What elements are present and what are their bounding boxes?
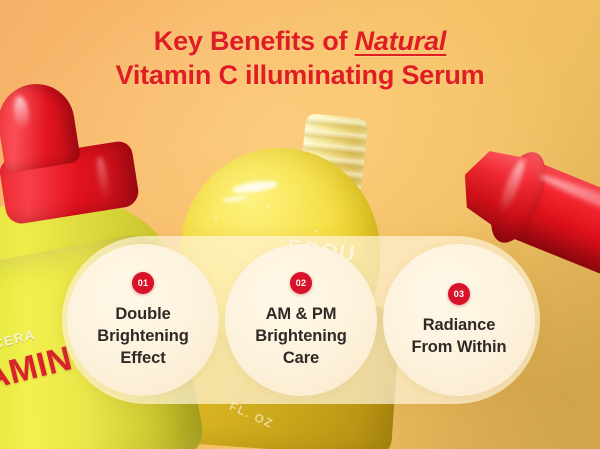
benefit-title-line: From Within	[412, 338, 507, 356]
benefit-title-line: Radiance	[423, 316, 496, 334]
benefit-card[interactable]: 01 Double Brightening Effect	[67, 244, 219, 396]
status-badge: 01	[132, 272, 154, 294]
benefit-title-line: AM & PM	[266, 305, 337, 323]
status-badge: 03	[448, 283, 470, 305]
headline-line2: Vitamin C illuminating Serum	[0, 58, 600, 92]
poster-canvas: QQU BER DEEP CERA VITAMIN EQQU BER FL. O…	[0, 0, 600, 449]
headline-line1-prefix: Key Benefits of	[154, 26, 355, 56]
page-title: Key Benefits of Natural Vitamin C illumi…	[0, 24, 600, 92]
benefit-title-line: Brightening	[255, 327, 346, 345]
benefit-card[interactable]: 03 Radiance From Within	[383, 244, 535, 396]
benefit-title-line: Effect	[120, 349, 165, 367]
benefit-title-line: Brightening	[97, 327, 188, 345]
status-badge: 02	[290, 272, 312, 294]
benefit-card-list: 01 Double Brightening Effect 02 AM & PM …	[62, 236, 540, 404]
benefit-card-title: Radiance From Within	[404, 314, 515, 358]
benefit-card-title: AM & PM Brightening Care	[247, 303, 354, 369]
headline-emphasis-natural: Natural	[355, 26, 447, 56]
benefit-card-title: Double Brightening Effect	[89, 303, 196, 369]
poster-content: Key Benefits of Natural Vitamin C illumi…	[0, 0, 600, 449]
benefit-title-line: Double	[115, 305, 170, 323]
benefit-title-line: Care	[283, 349, 319, 367]
benefit-card[interactable]: 02 AM & PM Brightening Care	[225, 244, 377, 396]
